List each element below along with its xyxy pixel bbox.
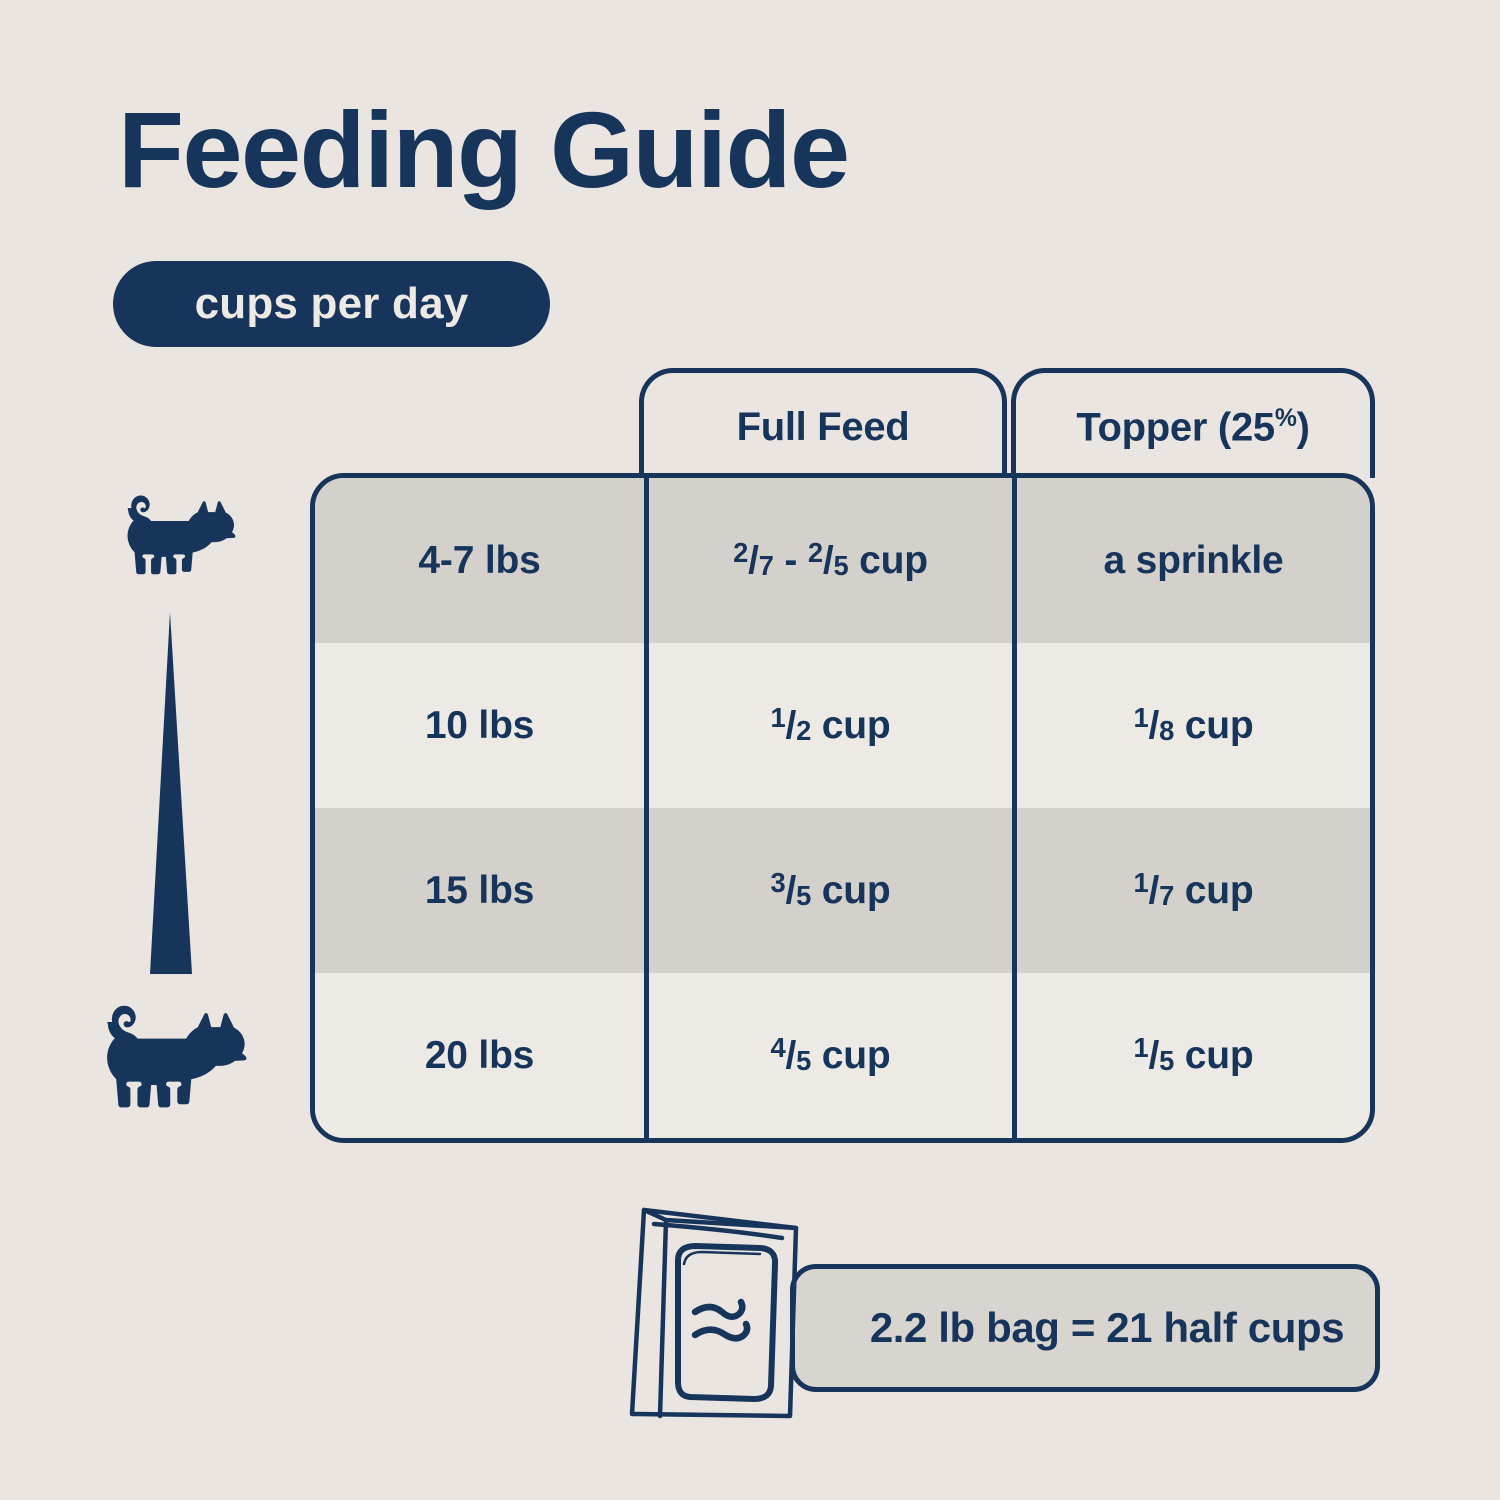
cat-silhouette-icon-small (118, 488, 236, 584)
cell-full-feed: 4/5 cup (644, 973, 1012, 1138)
table-header-full-feed: Full Feed (639, 368, 1007, 478)
feeding-table: Full Feed Topper (25%) 4-7 lbs 2/7 - 2/5… (310, 368, 1375, 1143)
table-row: 20 lbs 4/5 cup 1/5 cup (315, 973, 1370, 1138)
cell-full-feed: 2/7 - 2/5 cup (644, 478, 1012, 643)
page-title: Feeding Guide (118, 96, 849, 204)
bag-callout-bar: 2.2 lb bag = 21 half cups (790, 1264, 1380, 1392)
table-header-topper: Topper (25%) (1011, 368, 1375, 478)
cell-topper: 1/7 cup (1012, 808, 1370, 973)
cell-weight: 4-7 lbs (315, 478, 644, 643)
cell-weight: 15 lbs (315, 808, 644, 973)
feeding-guide-page: Feeding Guide cups per day Full Feed Top… (0, 0, 1500, 1500)
bag-callout: 2.2 lb bag = 21 half cups (620, 1202, 1380, 1422)
percent-superscript: % (1275, 405, 1297, 432)
table-header-full-feed-label: Full Feed (737, 405, 910, 450)
table-row: 10 lbs 1/2 cup 1/8 cup (315, 643, 1370, 808)
cell-topper: 1/5 cup (1012, 973, 1370, 1138)
table-header-topper-label: Topper (25%) (1076, 405, 1309, 450)
cell-weight: 10 lbs (315, 643, 644, 808)
subtitle-pill-label: cups per day (195, 279, 469, 329)
pet-food-bag-icon (620, 1202, 820, 1422)
table-body: 4-7 lbs 2/7 - 2/5 cup a sprinkle 10 lbs … (310, 473, 1375, 1143)
cell-topper: 1/8 cup (1012, 643, 1370, 808)
bag-callout-label: 2.2 lb bag = 21 half cups (870, 1304, 1344, 1352)
cell-topper: a sprinkle (1012, 478, 1370, 643)
cell-weight: 20 lbs (315, 973, 644, 1138)
table-header-tabs: Full Feed Topper (25%) (310, 368, 1375, 478)
table-row: 15 lbs 3/5 cup 1/7 cup (315, 808, 1370, 973)
table-row: 4-7 lbs 2/7 - 2/5 cup a sprinkle (315, 478, 1370, 643)
subtitle-pill-badge: cups per day (113, 261, 550, 347)
cell-full-feed: 3/5 cup (644, 808, 1012, 973)
size-gradient-wedge-icon (130, 612, 210, 974)
cell-full-feed: 1/2 cup (644, 643, 1012, 808)
cat-silhouette-icon-large (82, 996, 260, 1120)
